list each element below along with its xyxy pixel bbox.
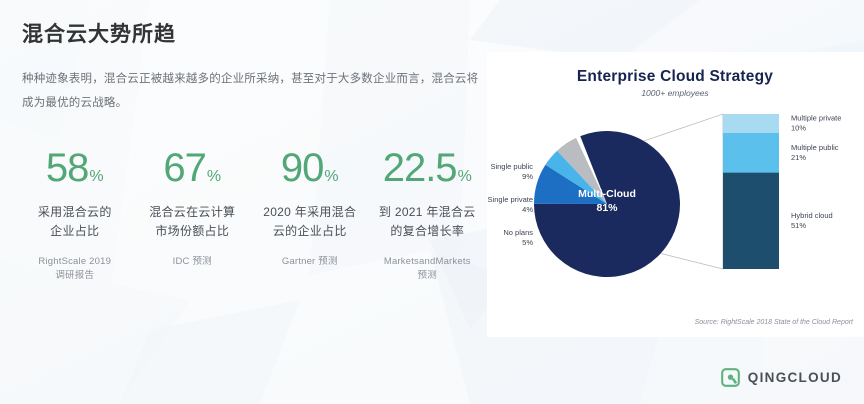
bar-label-multiple-private: Multiple private [791, 114, 841, 123]
stat-source-line2: 预测 [372, 269, 484, 283]
pie-value-single-private: 4% [522, 205, 533, 214]
stat-number: 58 [46, 146, 89, 190]
bar-value-multiple-public: 21% [791, 153, 806, 162]
stat-card-2: 90% 2020 年采用混合 云的企业占比 Gartner 预测 [251, 148, 369, 284]
qingcloud-logo-icon [721, 368, 740, 387]
stat-label-line2: 市场份额占比 [137, 222, 249, 241]
stat-number: 67 [163, 146, 206, 190]
chart-subtitle: 1000+ employees [641, 88, 709, 98]
stat-label-line1: 到 2021 年混合云 [372, 203, 484, 222]
stat-percent-sign: % [458, 168, 472, 185]
pie-value-no-plans: 5% [522, 238, 533, 247]
intro-block: 混合云大势所趋 种种迹象表明，混合云正被越来越多的企业所采纳，甚至对于大多数企业… [22, 22, 484, 115]
chart-title: Enterprise Cloud Strategy [577, 68, 773, 85]
stat-card-3: 22.5% 到 2021 年混合云 的复合增长率 MarketsandMarke… [369, 148, 487, 284]
slide-root: 混合云大势所趋 种种迹象表明，混合云正被越来越多的企业所采纳，甚至对于大多数企业… [0, 0, 864, 404]
page-title: 混合云大势所趋 [22, 22, 484, 47]
stat-value: 22.5% [372, 148, 484, 188]
stat-label: 到 2021 年混合云 的复合增长率 [372, 203, 484, 240]
statistics-row: 58% 采用混合云的 企业占比 RightScale 2019 调研报告 67%… [16, 148, 486, 284]
stat-label: 2020 年采用混合 云的企业占比 [254, 203, 366, 240]
stat-label-line2: 企业占比 [19, 222, 131, 241]
stat-source: IDC 预测 [137, 255, 249, 269]
pie-center-label: Multi-Cloud [578, 188, 636, 200]
stat-source: RightScale 2019 调研报告 [19, 255, 131, 284]
stat-source-line1: MarketsandMarkets [372, 255, 484, 269]
brand-name: QINGCLOUD [748, 370, 842, 385]
stat-source: Gartner 预测 [254, 255, 366, 269]
enterprise-cloud-strategy-chart: Enterprise Cloud Strategy 1000+ employee… [487, 52, 864, 337]
bar-label-multiple-public: Multiple public [791, 143, 839, 152]
stat-label: 混合云在云计算 市场份额占比 [137, 203, 249, 240]
stat-label-line2: 云的企业占比 [254, 222, 366, 241]
stat-percent-sign: % [207, 168, 221, 185]
brand-logo: QINGCLOUD [721, 368, 842, 387]
breakout-stacked-bar [723, 114, 779, 269]
stat-card-0: 58% 采用混合云的 企业占比 RightScale 2019 调研报告 [16, 148, 134, 284]
bar-segment-multiple-private [723, 114, 779, 133]
stat-number: 22.5 [383, 146, 457, 190]
chart-source: Source: RightScale 2018 State of the Clo… [695, 319, 854, 326]
stat-source: MarketsandMarkets 预测 [372, 255, 484, 284]
bar-value-hybrid-cloud: 51% [791, 221, 806, 230]
stat-label-line1: 采用混合云的 [19, 203, 131, 222]
stat-source-line1: Gartner 预测 [254, 255, 366, 269]
page-subtitle: 种种迹象表明，混合云正被越来越多的企业所采纳，甚至对于大多数企业而言，混合云将成… [22, 68, 484, 115]
stat-source-line1: RightScale 2019 [19, 255, 131, 269]
pie-label-single-private: Single private [488, 195, 533, 204]
pie-label-no-plans: No plans [503, 228, 533, 237]
stat-label-line2: 的复合增长率 [372, 222, 484, 241]
stat-value: 67% [137, 148, 249, 188]
bar-label-hybrid-cloud: Hybrid cloud [791, 211, 833, 220]
stat-label: 采用混合云的 企业占比 [19, 203, 131, 240]
bar-value-multiple-private: 10% [791, 124, 806, 133]
stat-number: 90 [281, 146, 324, 190]
pie-label-single-public: Single public [490, 162, 533, 171]
stat-value: 90% [254, 148, 366, 188]
stat-label-line1: 混合云在云计算 [137, 203, 249, 222]
bar-segment-hybrid-cloud [723, 173, 779, 269]
pie-center-value: 81% [596, 202, 618, 214]
stat-percent-sign: % [324, 168, 338, 185]
stat-label-line1: 2020 年采用混合 [254, 203, 366, 222]
stat-percent-sign: % [89, 168, 103, 185]
stat-card-1: 67% 混合云在云计算 市场份额占比 IDC 预测 [134, 148, 252, 284]
stat-value: 58% [19, 148, 131, 188]
pie-value-single-public: 9% [522, 172, 533, 181]
bar-segment-multiple-public [723, 133, 779, 173]
stat-source-line2: 调研报告 [19, 269, 131, 283]
stat-source-line1: IDC 预测 [137, 255, 249, 269]
chart-panel: Enterprise Cloud Strategy 1000+ employee… [487, 52, 864, 337]
